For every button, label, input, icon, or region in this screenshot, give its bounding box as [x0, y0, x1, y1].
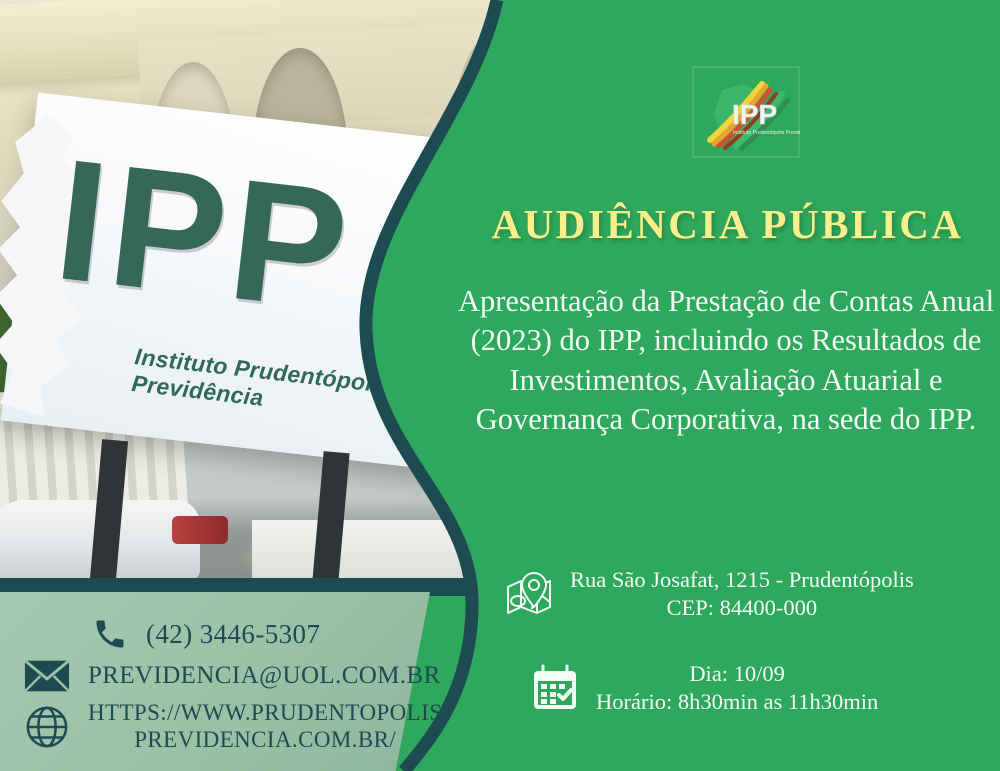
signboard-title: IPP [49, 140, 360, 331]
schedule-time: Horário: 8h30min as 11h30min [596, 688, 878, 716]
schedule-text: Dia: 10/09 Horário: 8h30min as 11h30min [596, 660, 878, 717]
phone-number: (42) 3446-5307 [146, 619, 320, 649]
car-taillight [172, 516, 228, 544]
poster-root: IPP Instituto Prudentópolis Previdência … [0, 0, 1000, 771]
website-url: HTTPS://WWW.PRUDENTOPOLIS PREVIDENCIA.CO… [88, 700, 442, 753]
body-description: Apresentação da Prestação de Contas Anua… [452, 282, 1000, 439]
phone-icon [92, 616, 128, 652]
email-address: PREVIDENCIA@UOL.COM.BR [88, 662, 441, 690]
schedule-block: Dia: 10/09 Horário: 8h30min as 11h30min [530, 660, 960, 717]
contact-phone[interactable]: (42) 3446-5307 [92, 616, 320, 652]
address-block: Rua São Josafat, 1215 - Prudentópolis CE… [504, 566, 974, 623]
contact-email[interactable]: PREVIDENCIA@UOL.COM.BR [24, 658, 441, 694]
globe-icon [24, 704, 70, 750]
headline-title: AUDIÊNCIA PÚBLICA [455, 200, 1000, 248]
calendar-icon [530, 663, 580, 713]
contact-website[interactable]: HTTPS://WWW.PRUDENTOPOLIS PREVIDENCIA.CO… [24, 700, 442, 753]
address-line-2: CEP: 84400-000 [570, 594, 914, 622]
ipp-logo: IPP Instituto Prudentópolis Previdência [692, 66, 800, 158]
address-line-1: Rua São Josafat, 1215 - Prudentópolis [570, 566, 914, 594]
address-text: Rua São Josafat, 1215 - Prudentópolis CE… [570, 566, 914, 623]
envelope-icon [24, 658, 70, 694]
map-pin-icon [504, 569, 554, 619]
ipp-signboard: IPP Instituto Prudentópolis Previdência [1, 92, 505, 473]
signboard-subtitle: Instituto Prudentópolis Previdência [130, 343, 478, 436]
schedule-date: Dia: 10/09 [596, 660, 878, 688]
building-photo: IPP Instituto Prudentópolis Previdência [0, 0, 520, 578]
logo-wordmark: IPP [732, 99, 777, 130]
planter-box [252, 520, 482, 578]
logo-tagline: Instituto Prudentópolis Previdência [733, 130, 800, 136]
